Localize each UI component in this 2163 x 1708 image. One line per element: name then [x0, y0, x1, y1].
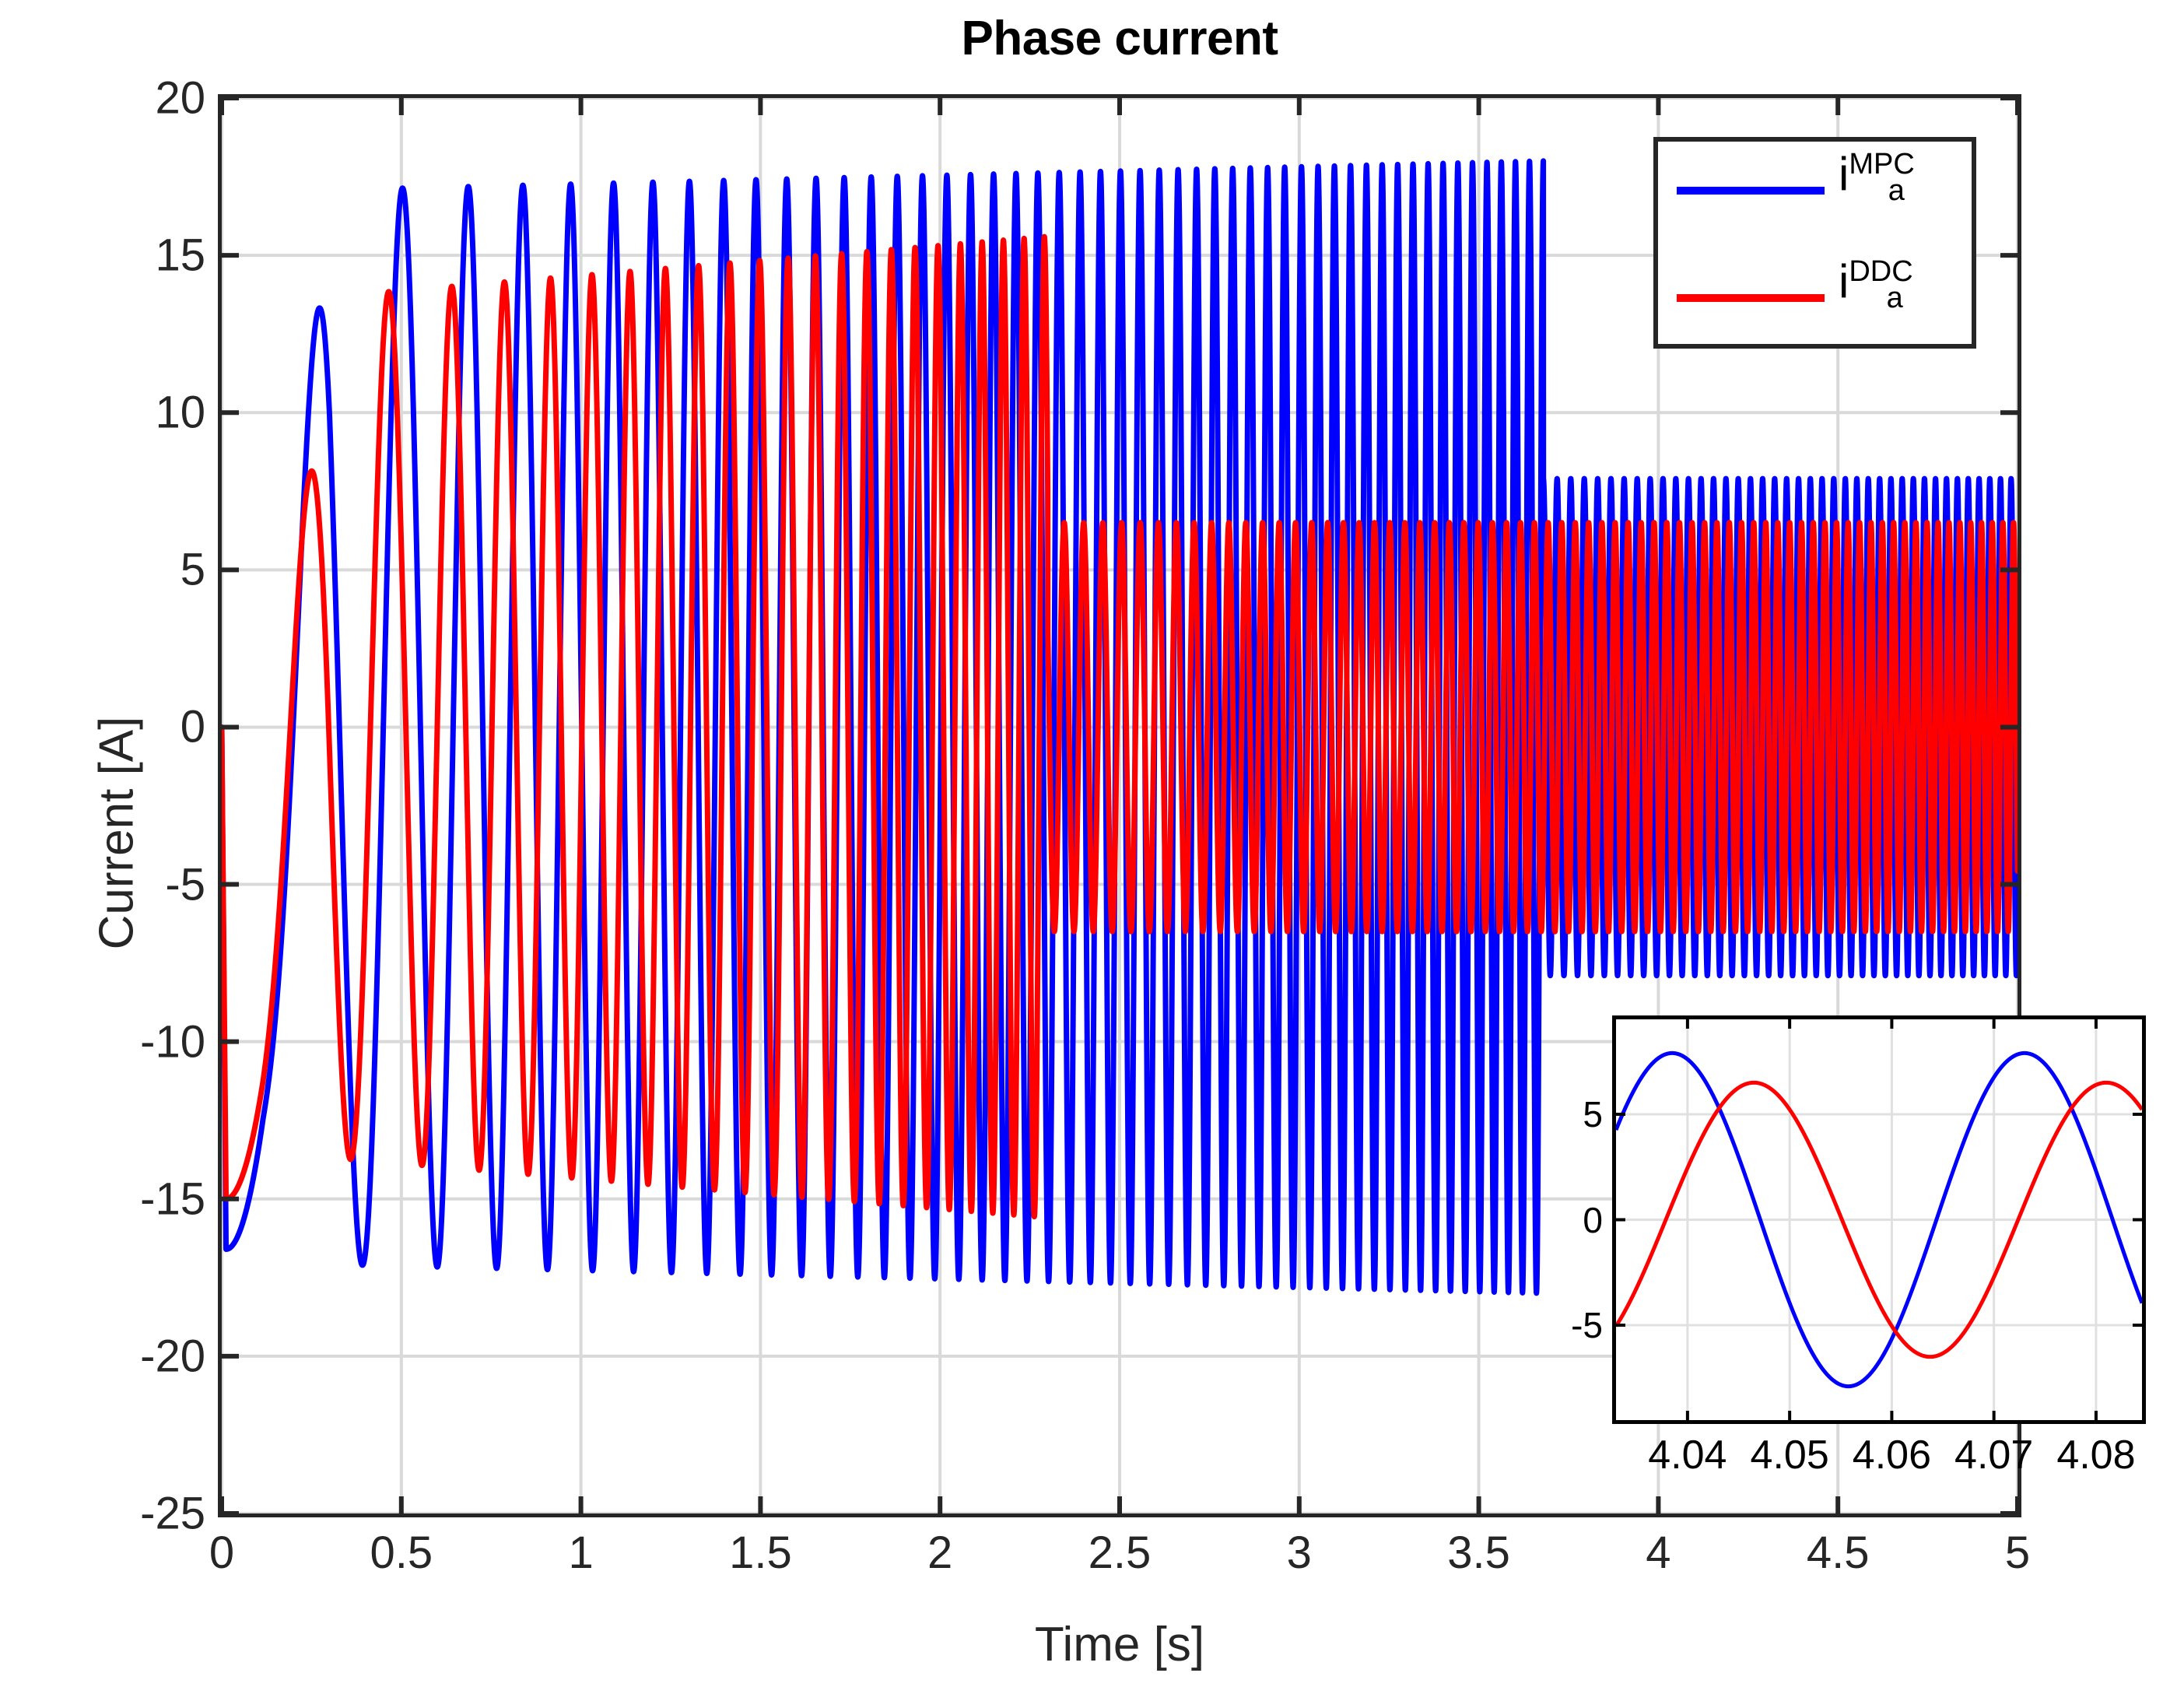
x-tick-label: 1	[568, 1527, 593, 1579]
inset-y-tick-label: 0	[1537, 1199, 1603, 1241]
y-tick-label: 0	[181, 701, 205, 753]
legend-label-ddc-base: i	[1839, 255, 1849, 307]
x-tick-label: 0	[209, 1527, 234, 1579]
legend-label-mpc: iMPCa	[1839, 149, 1905, 205]
legend-swatch-ddc	[1677, 294, 1825, 302]
inset-y-tick-label: -5	[1537, 1304, 1603, 1346]
y-tick-label: 10	[155, 387, 205, 439]
x-tick-label: 3.5	[1447, 1527, 1510, 1579]
legend-label-ddc: iDDCa	[1839, 257, 1903, 313]
legend-label-mpc-sup: MPC	[1849, 148, 1914, 181]
x-tick-label: 2.5	[1089, 1527, 1152, 1579]
x-axis-label: Time [s]	[218, 1617, 2021, 1672]
inset-plot-area	[1612, 1015, 2146, 1424]
inset-plot-svg	[1616, 1019, 2142, 1420]
chart-title: Phase current	[218, 11, 2021, 66]
y-tick-label: 20	[155, 72, 205, 125]
y-tick-label: 15	[155, 230, 205, 282]
inset-x-tick-label: 4.05	[1751, 1432, 1829, 1478]
x-tick-label: 0.5	[370, 1527, 433, 1579]
legend-swatch-mpc	[1677, 187, 1825, 195]
y-tick-label: -15	[140, 1173, 205, 1225]
x-tick-label: 1.5	[729, 1527, 792, 1579]
legend-label-mpc-sub: a	[1888, 174, 1905, 207]
y-tick-label: -25	[140, 1488, 205, 1540]
y-axis-label: Current [A]	[89, 483, 145, 1184]
figure-canvas: Phase current Current [A] Time [s] 20151…	[0, 0, 2163, 1708]
legend-label-mpc-base: i	[1839, 148, 1849, 200]
x-tick-label: 4.5	[1807, 1527, 1870, 1579]
x-tick-label: 2	[927, 1527, 952, 1579]
y-tick-label: 5	[181, 544, 205, 596]
inset-x-tick-label: 4.06	[1853, 1432, 1931, 1478]
x-tick-label: 4	[1646, 1527, 1670, 1579]
legend-item-mpc[interactable]: iMPCa	[1658, 148, 1972, 233]
y-tick-label: -5	[165, 858, 205, 910]
inset-x-tick-label: 4.04	[1648, 1432, 1727, 1478]
legend-label-ddc-sub: a	[1887, 282, 1903, 314]
legend-label-ddc-sup: DDC	[1849, 255, 1912, 288]
legend-box: iMPCa iDDCa	[1653, 137, 1976, 349]
y-tick-label: -10	[140, 1015, 205, 1068]
inset-x-tick-label: 4.08	[2056, 1432, 2135, 1478]
legend-item-ddc[interactable]: iDDCa	[1658, 255, 1972, 341]
inset-y-tick-label: 5	[1537, 1093, 1603, 1135]
y-tick-label: -20	[140, 1330, 205, 1382]
x-tick-label: 5	[2005, 1527, 2030, 1579]
inset-x-tick-label: 4.07	[1954, 1432, 2033, 1478]
x-tick-label: 3	[1287, 1527, 1312, 1579]
